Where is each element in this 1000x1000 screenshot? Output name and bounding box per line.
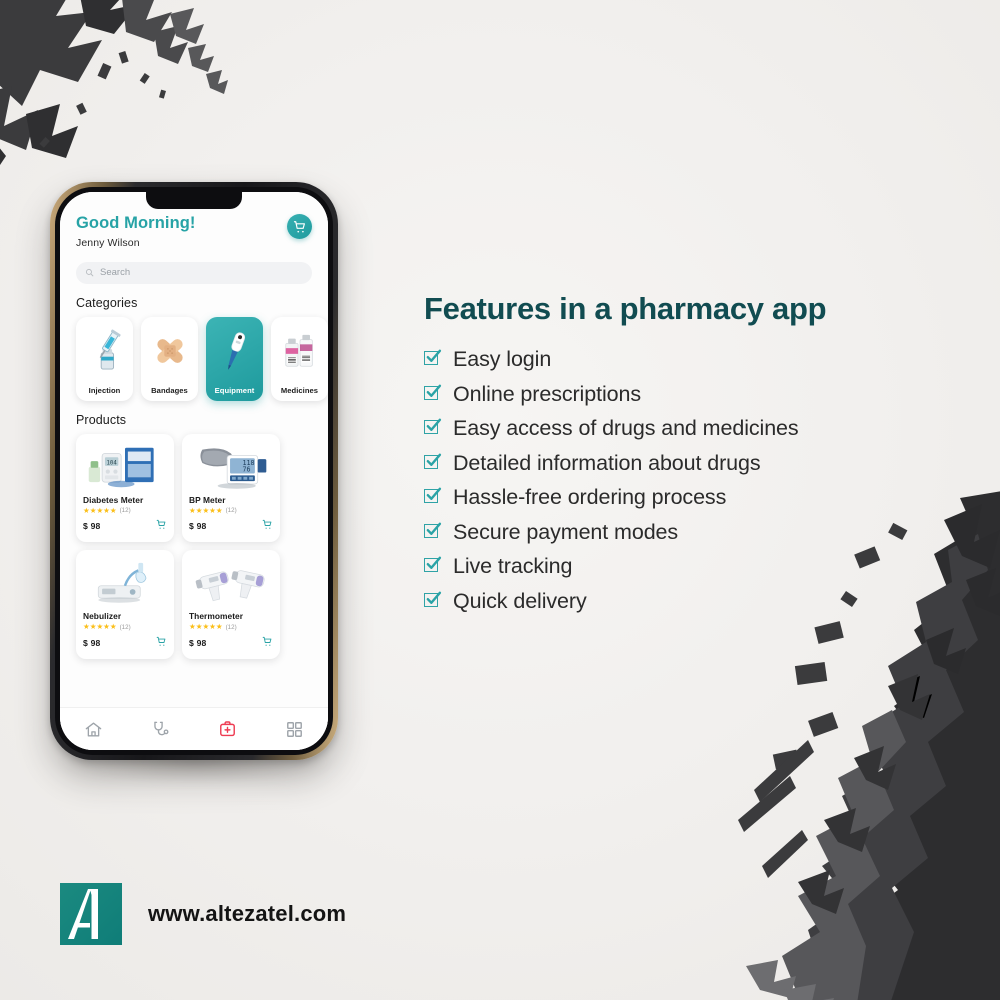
product-card-diabetes-meter[interactable]: 104 Diabetes Meter — [76, 434, 174, 543]
home-icon[interactable] — [84, 720, 103, 739]
footer: www.altezatel.com — [60, 883, 346, 945]
checkmark-icon — [424, 351, 441, 368]
medical-kit-icon[interactable] — [218, 720, 237, 739]
review-count: (12) — [120, 507, 131, 514]
greeting-block: Good Morning! Jenny Wilson — [76, 214, 196, 249]
product-rating: ★★★★★ (12) — [83, 623, 167, 631]
pharmacy-app-ui: Good Morning! Jenny Wilson — [60, 192, 328, 750]
svg-text:104: 104 — [106, 460, 117, 466]
search-placeholder: Search — [100, 267, 130, 278]
checkmark-icon — [424, 558, 441, 575]
checkmark-icon — [424, 386, 441, 403]
poster-canvas: Good Morning! Jenny Wilson — [0, 0, 1000, 1000]
syringe-icon — [76, 317, 133, 386]
stethoscope-icon[interactable] — [151, 720, 170, 739]
list-item: Secure payment modes — [424, 518, 944, 547]
svg-text:76: 76 — [242, 466, 250, 474]
phone-frame: Good Morning! Jenny Wilson — [50, 182, 338, 760]
checkmark-icon — [424, 489, 441, 506]
phone-notch — [146, 192, 242, 209]
checkmark-icon — [424, 420, 441, 437]
review-count: (12) — [120, 624, 131, 631]
greeting-text: Good Morning! — [76, 214, 196, 233]
medicine-bottles-icon — [271, 317, 328, 386]
bandage-icon — [141, 317, 198, 386]
bottom-tab-bar[interactable] — [60, 707, 328, 750]
products-title: Products — [76, 413, 312, 427]
products-grid: 104 Diabetes Meter — [76, 434, 312, 659]
list-item: Live tracking — [424, 552, 944, 581]
app-header: Good Morning! Jenny Wilson — [76, 214, 312, 249]
list-item: Quick delivery — [424, 587, 944, 616]
product-rating: ★★★★★ (12) — [83, 507, 167, 515]
list-item: Easy login — [424, 345, 944, 374]
categories-title: Categories — [76, 296, 312, 310]
add-to-cart-icon[interactable] — [262, 634, 273, 652]
category-medicines[interactable]: Medicines — [271, 317, 328, 401]
product-name: Diabetes Meter — [83, 495, 167, 505]
product-rating: ★★★★★ (12) — [189, 507, 273, 515]
nebulizer-image — [83, 556, 167, 608]
review-count: (12) — [226, 507, 237, 514]
thermometer-icon — [206, 317, 263, 386]
phone-mockup: Good Morning! Jenny Wilson — [50, 182, 340, 762]
phone-bezel: Good Morning! Jenny Wilson — [55, 187, 333, 755]
category-bandages[interactable]: Bandages — [141, 317, 198, 401]
feature-label: Secure payment modes — [453, 518, 678, 547]
list-item: Online prescriptions — [424, 380, 944, 409]
product-name: Thermometer — [189, 611, 273, 621]
product-price-row: $ 98 — [83, 634, 167, 652]
feature-label: Quick delivery — [453, 587, 587, 616]
search-icon — [85, 268, 94, 277]
product-card-thermometer[interactable]: Thermometer ★★★★★ (12) $ 98 — [182, 550, 280, 659]
content-column: Features in a pharmacy app Easy login On… — [424, 292, 944, 621]
category-label: Injection — [89, 386, 121, 395]
phone-screen: Good Morning! Jenny Wilson — [60, 192, 328, 750]
product-price: $ 98 — [83, 638, 101, 648]
checkmark-icon — [424, 524, 441, 541]
star-rating: ★★★★★ — [189, 507, 223, 515]
category-equipment[interactable]: Equipment — [206, 317, 263, 401]
star-rating: ★★★★★ — [83, 507, 117, 515]
product-card-bp-meter[interactable]: 11876 BP Meter — [182, 434, 280, 543]
review-count: (12) — [226, 624, 237, 631]
thermometer-gun-image — [189, 556, 273, 608]
list-item: Detailed information about drugs — [424, 449, 944, 478]
feature-label: Easy login — [453, 345, 551, 374]
features-list: Easy login Online prescriptions Easy acc… — [424, 345, 944, 616]
page-title: Features in a pharmacy app — [424, 292, 944, 326]
list-item: Hassle-free ordering process — [424, 483, 944, 512]
diabetes-meter-image: 104 — [83, 440, 167, 492]
add-to-cart-icon[interactable] — [156, 634, 167, 652]
grid-icon[interactable] — [285, 720, 304, 739]
product-price: $ 98 — [189, 638, 207, 648]
category-label: Bandages — [151, 386, 188, 395]
product-rating: ★★★★★ (12) — [189, 623, 273, 631]
feature-label: Easy access of drugs and medicines — [453, 414, 799, 443]
website-url: www.altezatel.com — [148, 901, 346, 927]
feature-label: Detailed information about drugs — [453, 449, 761, 478]
product-price: $ 98 — [189, 521, 207, 531]
category-injection[interactable]: Injection — [76, 317, 133, 401]
bp-meter-image: 11876 — [189, 440, 273, 492]
product-name: Nebulizer — [83, 611, 167, 621]
feature-label: Live tracking — [453, 552, 572, 581]
product-name: BP Meter — [189, 495, 273, 505]
product-price-row: $ 98 — [189, 634, 273, 652]
add-to-cart-icon[interactable] — [262, 517, 273, 535]
product-price-row: $ 98 — [83, 517, 167, 535]
star-rating: ★★★★★ — [189, 623, 223, 631]
product-price: $ 98 — [83, 521, 101, 531]
categories-row[interactable]: Injection — [76, 317, 312, 401]
user-name: Jenny Wilson — [76, 237, 196, 249]
product-price-row: $ 98 — [189, 517, 273, 535]
category-label: Medicines — [281, 386, 318, 395]
shopping-cart-icon[interactable] — [287, 214, 312, 239]
checkmark-icon — [424, 593, 441, 610]
category-label: Equipment — [215, 386, 255, 395]
feature-label: Online prescriptions — [453, 380, 641, 409]
feature-label: Hassle-free ordering process — [453, 483, 726, 512]
checkmark-icon — [424, 455, 441, 472]
altezatel-a-logo — [60, 883, 122, 945]
list-item: Easy access of drugs and medicines — [424, 414, 944, 443]
search-input[interactable]: Search — [76, 262, 312, 284]
star-rating: ★★★★★ — [83, 623, 117, 631]
product-card-nebulizer[interactable]: Nebulizer ★★★★★ (12) $ 98 — [76, 550, 174, 659]
add-to-cart-icon[interactable] — [156, 517, 167, 535]
